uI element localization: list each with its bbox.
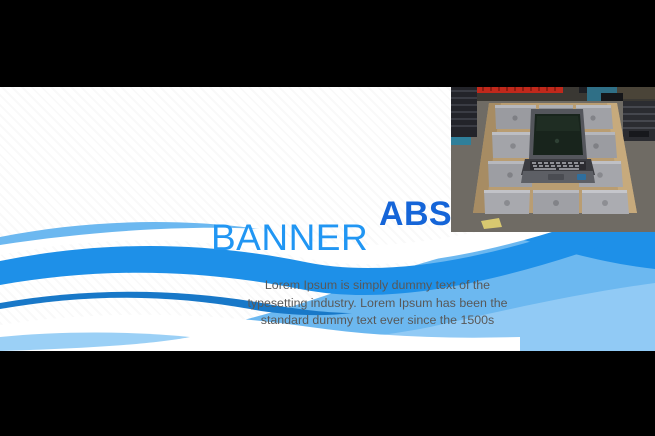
screenshot-stage: BANNER ABS Lorem Ipsum is simply dummy t… <box>0 0 655 436</box>
dark-stack-left <box>451 85 477 145</box>
body-line-2: typesetting industry. Lorem Ipsum has be… <box>205 295 550 313</box>
banner-title: BANNER <box>211 218 368 258</box>
letterbox-bar-bottom <box>0 351 655 436</box>
photo-content <box>451 71 655 232</box>
letterbox-bar-top <box>0 0 655 87</box>
dark-laptop-stack-right <box>623 101 655 141</box>
body-line-3: standard dummy text ever since the 1500s <box>205 312 550 330</box>
body-line-1: Lorem Ipsum is simply dummy text of the <box>205 277 550 295</box>
laptops-on-pallet-photo <box>451 71 655 232</box>
body-paragraph: Lorem Ipsum is simply dummy text of the … <box>205 277 550 330</box>
abstract-title: ABS <box>379 195 452 233</box>
